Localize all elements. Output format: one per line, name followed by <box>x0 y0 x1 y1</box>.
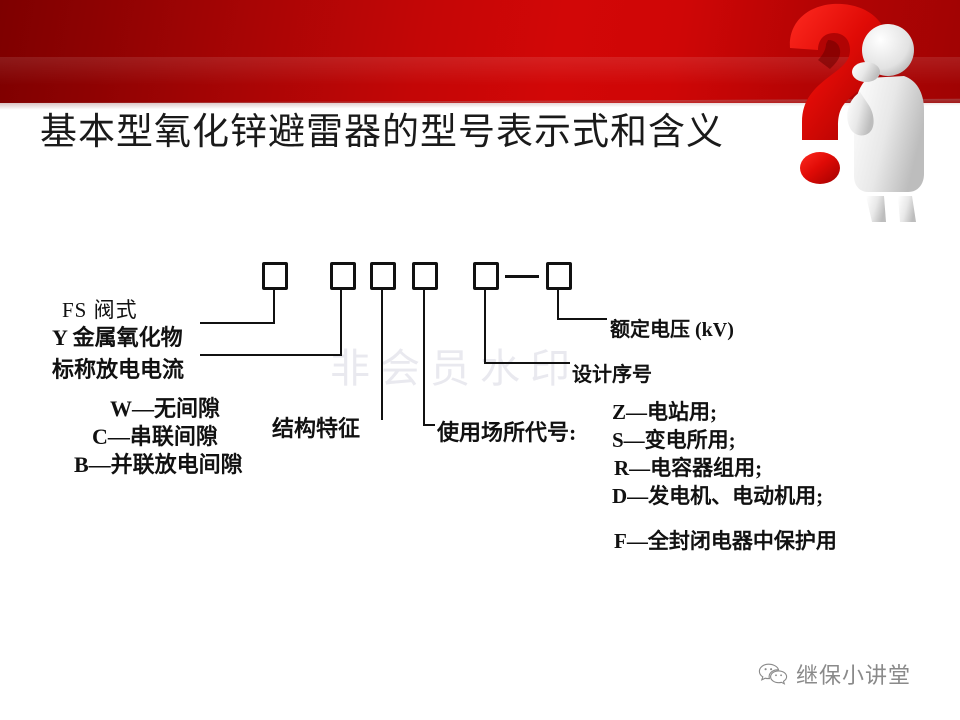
leader-5-horizontal <box>484 362 570 364</box>
leader-4-vertical <box>423 290 425 426</box>
leader-4-horizontal <box>423 424 435 426</box>
label-rated-voltage: 额定电压 (kV) <box>610 313 734 342</box>
code-separator-dash <box>505 275 539 278</box>
code-box-2 <box>330 262 356 290</box>
code-box-6 <box>546 262 572 290</box>
leader-5-vertical <box>484 290 486 364</box>
slide-canvas: 基本型氧化锌避雷器的型号表示式和含义 非会员水印 FS 阀式 Y 金属氧化物 <box>0 0 960 720</box>
place-code-item-r: R—电容器组用; <box>614 452 762 482</box>
model-code-diagram: FS 阀式 Y 金属氧化物 标称放电电流 W—无间隙 C—串联间隙 B—并联放电… <box>0 0 960 720</box>
place-code-item-d: D—发电机、电动机用; <box>612 480 823 510</box>
code-box-3 <box>370 262 396 290</box>
wechat-icon <box>758 662 788 686</box>
leader-3-vertical <box>381 290 383 420</box>
label-metal-oxide: Y 金属氧化物 <box>52 320 183 352</box>
place-code-item-z: Z—电站用; <box>612 396 717 426</box>
footer-brand: 继保小讲堂 <box>758 658 911 690</box>
code-box-4 <box>412 262 438 290</box>
label-place-code: 使用场所代号: <box>437 415 576 447</box>
leader-1-vertical <box>273 290 275 324</box>
leader-1-horizontal <box>200 322 275 324</box>
code-box-5 <box>473 262 499 290</box>
code-box-1 <box>262 262 288 290</box>
leader-6-vertical <box>557 290 559 320</box>
label-gap-b: B—并联放电间隙 <box>74 447 243 479</box>
place-code-item-f: F—全封闭电器中保护用 <box>614 525 837 555</box>
label-design-no: 设计序号 <box>572 358 652 387</box>
brand-name: 继保小讲堂 <box>796 658 911 690</box>
leader-6-horizontal <box>557 318 607 320</box>
leader-2-vertical <box>340 290 342 356</box>
label-structure: 结构特征 <box>272 411 360 443</box>
label-rated-current: 标称放电电流 <box>52 352 184 384</box>
leader-2-horizontal <box>200 354 342 356</box>
place-code-item-s: S—变电所用; <box>612 424 736 454</box>
